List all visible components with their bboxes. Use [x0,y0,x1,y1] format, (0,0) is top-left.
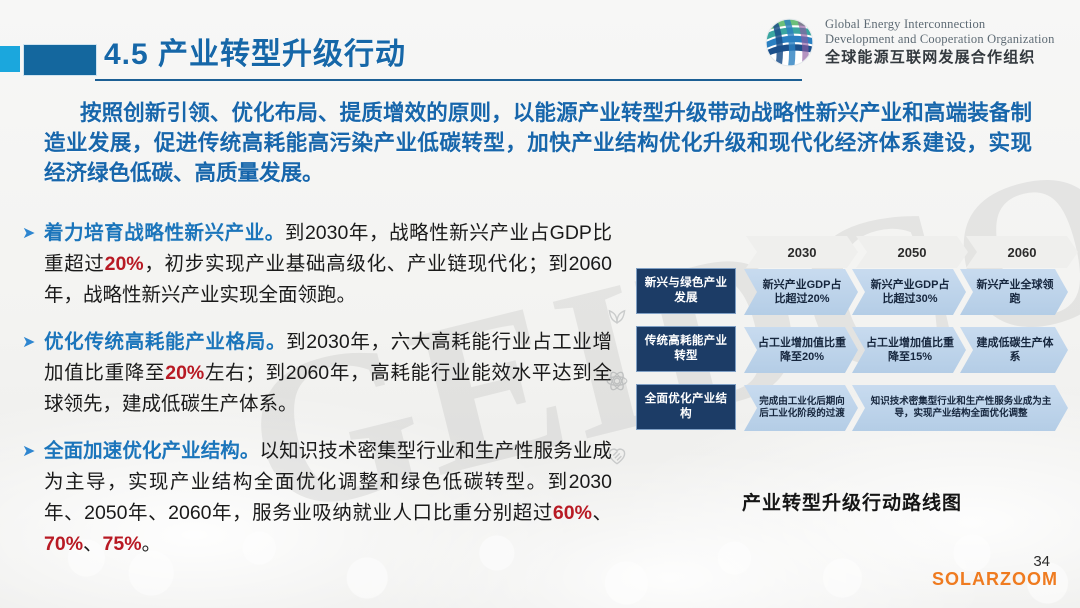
header-accent-blue-block [23,44,97,76]
bullet-text: 优化传统高耗能产业格局。到2030年，六大高耗能行业占工业增加值比重降至20%左… [44,327,612,420]
roadmap-step: 完成由工业化后期向后工业化阶段的过渡 [744,385,858,431]
logo-chinese-name: 全球能源互联网发展合作组织 [825,48,1055,68]
bullet-text: 着力培育战略性新兴产业。到2030年，战略性新兴产业占GDP比重超过20%，初步… [44,218,612,311]
bullet-lead: 全面加速优化产业结构。 [44,440,259,462]
bullet-separator: 、 [592,502,612,524]
roadmap-step: 建成低碳生产体系 [960,327,1068,373]
title-divider [95,79,802,81]
slide-canvas: GEIDCO 4.5 产业转型升级行动 [0,0,1080,608]
roadmap-row-emerging-green: 新兴与绿色产业发展 新兴产业GDP占比超过20% 新兴产业GDP占比超过30% … [636,268,1068,316]
logo-english-line2: Development and Cooperation Organization [825,32,1055,47]
roadmap-step: 知识技术密集型行业和生产性服务业成为主导，实现产业结构全面优化调整 [852,385,1068,431]
bullet-highlight: 70% [44,533,83,555]
page-number: 34 [1033,553,1050,570]
bullet-highlight: 60% [553,502,592,524]
page-title: 4.5 产业转型升级行动 [104,29,406,73]
roadmap-row-structure-optimization: 全面优化产业结构 完成由工业化后期向后工业化阶段的过渡 知识技术密集型行业和生产… [636,384,1068,432]
organization-logo: Global Energy Interconnection Developmen… [763,16,1055,69]
atom-icon [604,368,630,399]
bullet-highlight: 20% [165,362,204,384]
bullet-arrow-icon: ➤ [22,218,44,249]
bullet-lead: 优化传统高耗能产业格局。 [44,331,286,353]
list-item: ➤ 全面加速优化产业结构。以知识技术密集型行业和生产性服务业成为主导，实现产业结… [22,436,612,560]
roadmap-step: 新兴产业全球领跑 [960,269,1068,315]
bullet-arrow-icon: ➤ [22,436,44,467]
roadmap-step: 新兴产业GDP占比超过20% [744,269,858,315]
roadmap-step: 新兴产业GDP占比超过30% [852,269,966,315]
year-label-2050: 2050 [856,236,968,268]
logo-text-block: Global Energy Interconnection Developmen… [825,17,1055,68]
roadmap-row-label: 传统高耗能产业转型 [636,326,736,372]
list-item: ➤ 着力培育战略性新兴产业。到2030年，战略性新兴产业占GDP比重超过20%，… [22,218,612,311]
globe-grid-icon [763,16,816,69]
list-item: ➤ 优化传统高耗能产业格局。到2030年，六大高耗能行业占工业增加值比重降至20… [22,327,612,420]
bullet-separator: 、 [83,533,103,555]
roadmap-diagram: 2030 2050 2060 新兴与绿色产业发展 新兴产业GDP占比超过20% … [636,236,1068,511]
roadmap-step: 占工业增加值比重降至15% [852,327,966,373]
solarzoom-watermark: SOLARZOOM [932,569,1058,590]
header-accent-cyan-block [0,46,20,72]
bullet-part2: 。 [142,533,162,555]
roadmap-step: 占工业增加值比重降至20% [744,327,858,373]
bullet-text: 全面加速优化产业结构。以知识技术密集型行业和生产性服务业成为主导，实现产业结构全… [44,436,612,560]
bullet-list: ➤ 着力培育战略性新兴产业。到2030年，战略性新兴产业占GDP比重超过20%，… [22,218,612,576]
roadmap-year-header: 2030 2050 2060 [746,236,1068,268]
roadmap-row-label: 全面优化产业结构 [636,384,736,430]
year-label-2030: 2030 [746,236,858,268]
year-label-2060: 2060 [966,236,1078,268]
roadmap-caption: 产业转型升级行动路线图 [636,488,1068,515]
intro-paragraph: 按照创新引领、优化布局、提质增效的原则，以能源产业转型升级带动战略性新兴产业和高… [44,98,1032,188]
heart-shield-icon [604,442,630,473]
roadmap-row-label: 新兴与绿色产业发展 [636,268,736,314]
bullet-highlight: 20% [105,253,144,275]
bullet-highlight: 75% [103,533,142,555]
bullet-arrow-icon: ➤ [22,327,44,358]
leaf-icon [604,300,630,331]
roadmap-row-traditional-transform: 传统高耗能产业转型 占工业增加值比重降至20% 占工业增加值比重降至15% 建成… [636,326,1068,374]
logo-english-line1: Global Energy Interconnection [825,17,1055,32]
bullet-lead: 着力培育战略性新兴产业。 [44,222,285,244]
